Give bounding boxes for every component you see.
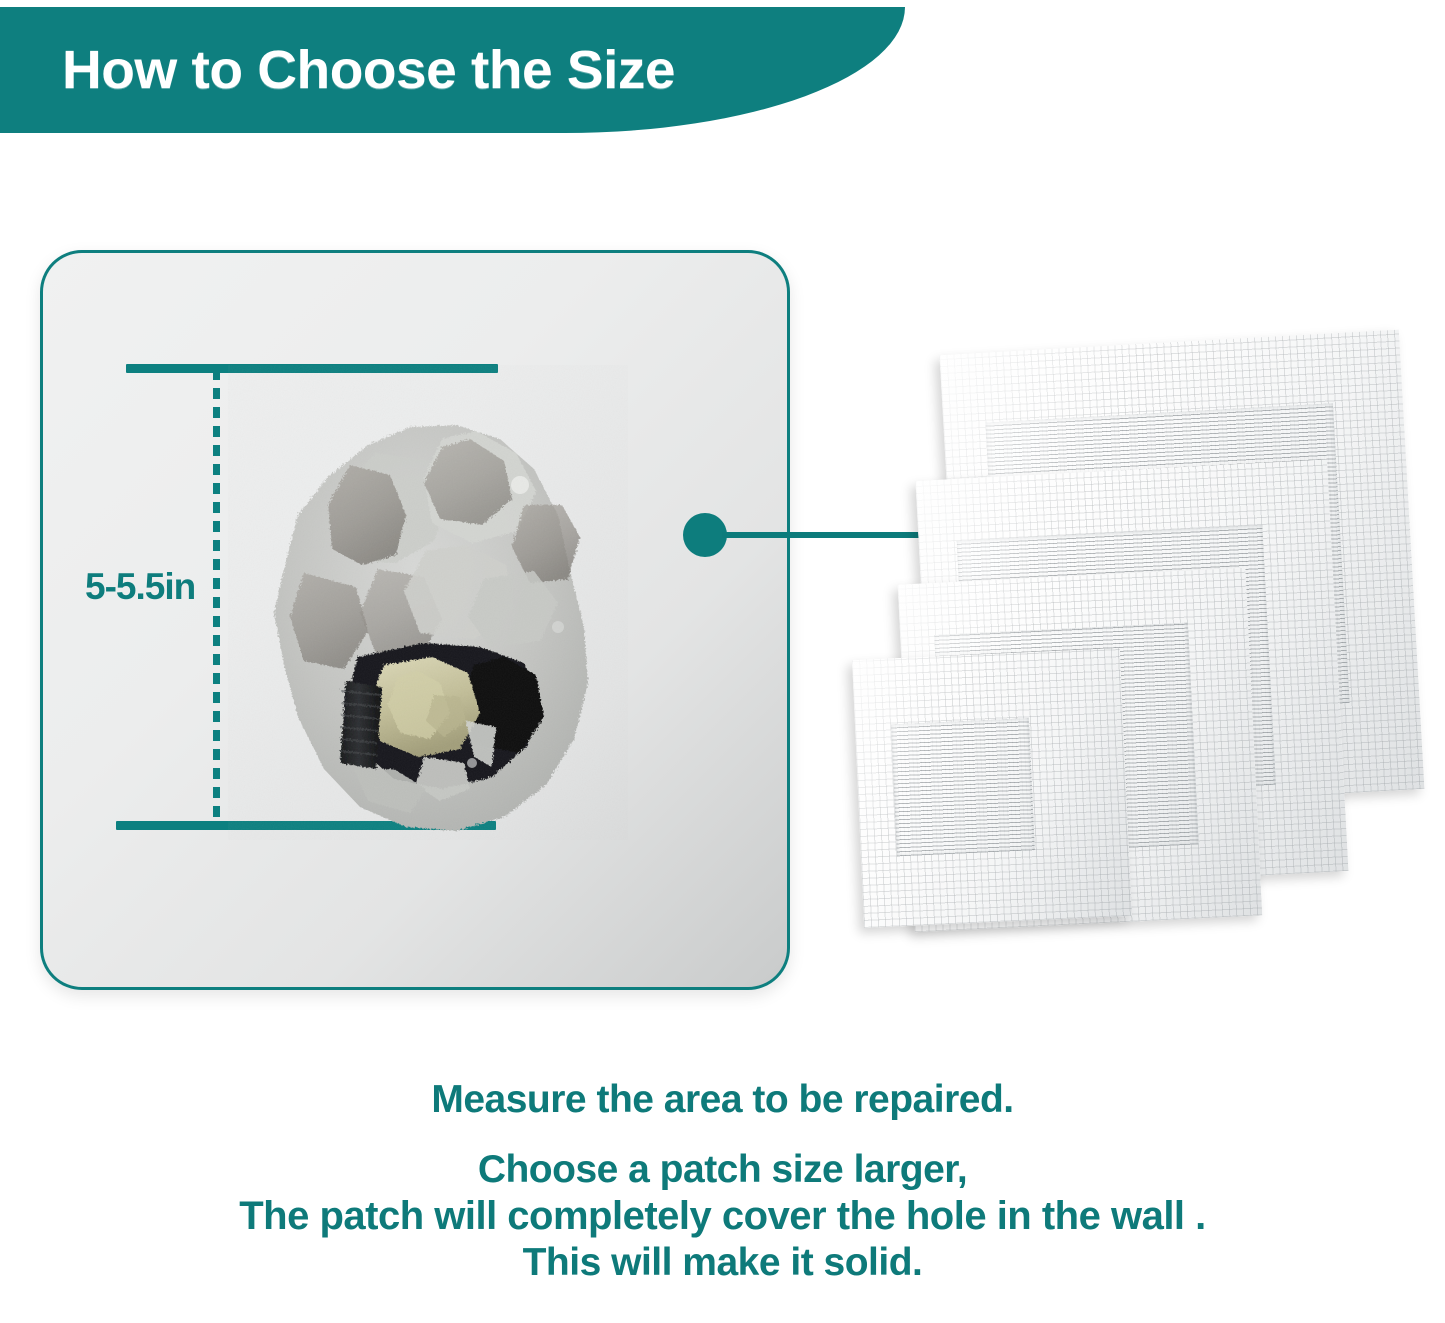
- measure-dotted-guide: [213, 369, 220, 824]
- caption-line-4: This will make it solid.: [0, 1241, 1445, 1285]
- caption-line-2: Choose a patch size larger,: [0, 1148, 1445, 1192]
- wall-hole-image: [228, 365, 628, 840]
- patch-small: [852, 648, 1132, 928]
- measurement-label: 5-5.5in: [85, 566, 195, 608]
- caption-line-1: Measure the area to be repaired.: [0, 1078, 1445, 1122]
- patch-stack: [820, 320, 1445, 945]
- infographic-root: How to Choose the Size 5-5.5in: [0, 0, 1445, 1323]
- metal-center-plate: [891, 718, 1035, 856]
- callout-dot: [683, 513, 727, 557]
- caption-block: Measure the area to be repaired. Choose …: [0, 1078, 1445, 1285]
- page-title: How to Choose the Size: [62, 39, 675, 101]
- caption-line-3: The patch will completely cover the hole…: [0, 1194, 1445, 1239]
- wall-hole-illustration: [228, 365, 628, 840]
- header-banner: How to Choose the Size: [0, 7, 905, 133]
- measurement-panel: 5-5.5in: [40, 250, 790, 990]
